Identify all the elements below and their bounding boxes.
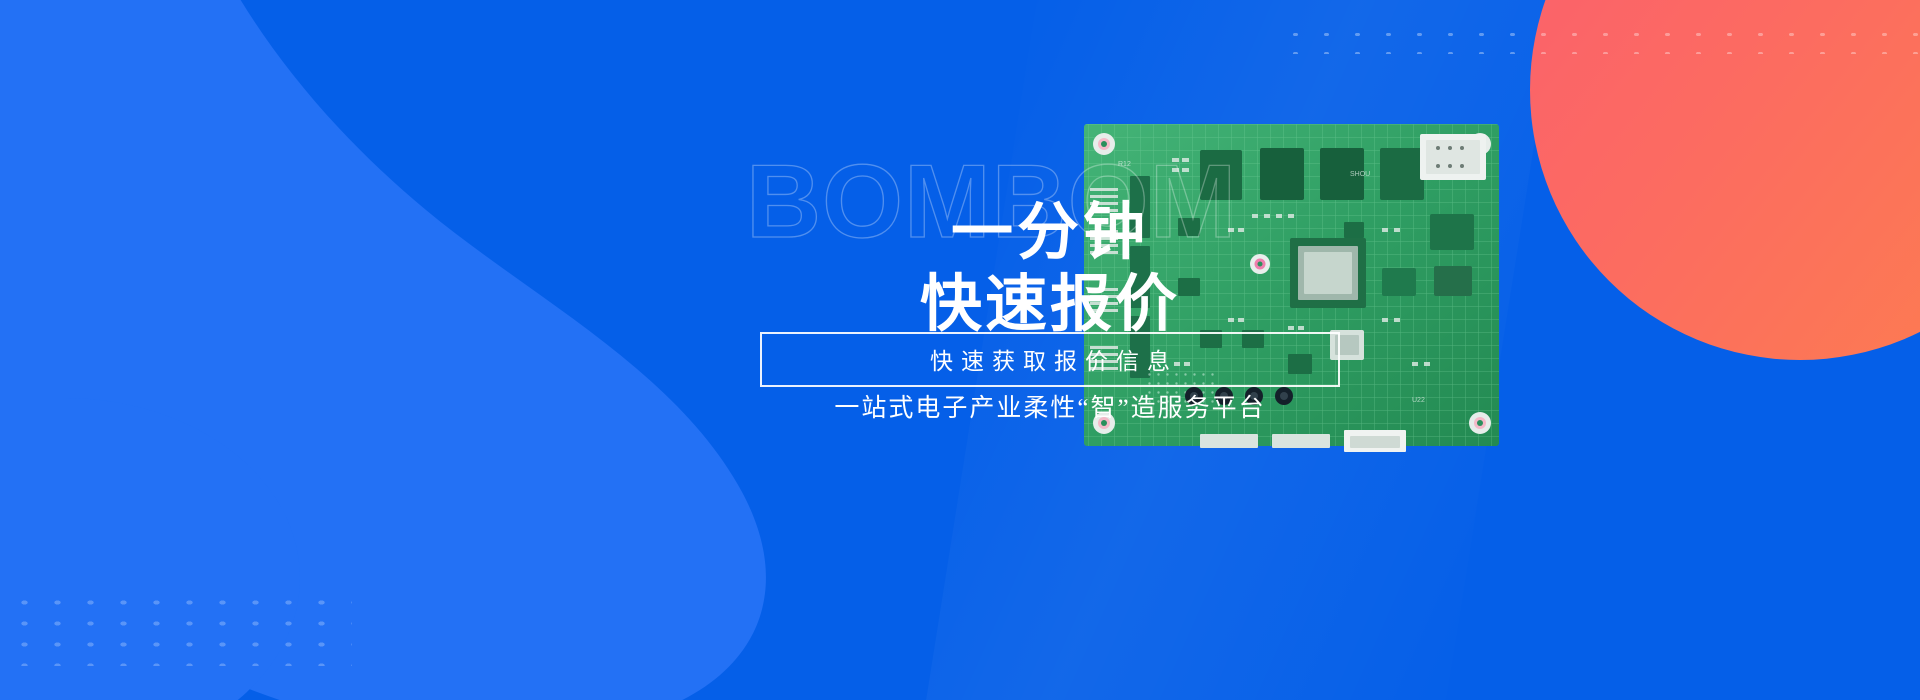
tagline: 一站式电子产业柔性“智”造服务平台 [670,388,1430,424]
promo-banner: SHOU R12 U22 BOMBOM 一分钟 快速报价 快速获取报价信息 一站… [0,0,1920,700]
headline: 一分钟 快速报价 [760,202,1340,336]
headline-line-2: 快速报价 [760,274,1340,336]
banner-copy: BOMBOM 一分钟 快速报价 快速获取报价信息 一站式电子产业柔性“智”造服务… [760,150,1560,570]
headline-line-1: 一分钟 [760,202,1340,264]
cta-box[interactable]: 快速获取报价信息 [760,332,1340,387]
cta-box-label: 快速获取报价信息 [922,348,1178,374]
